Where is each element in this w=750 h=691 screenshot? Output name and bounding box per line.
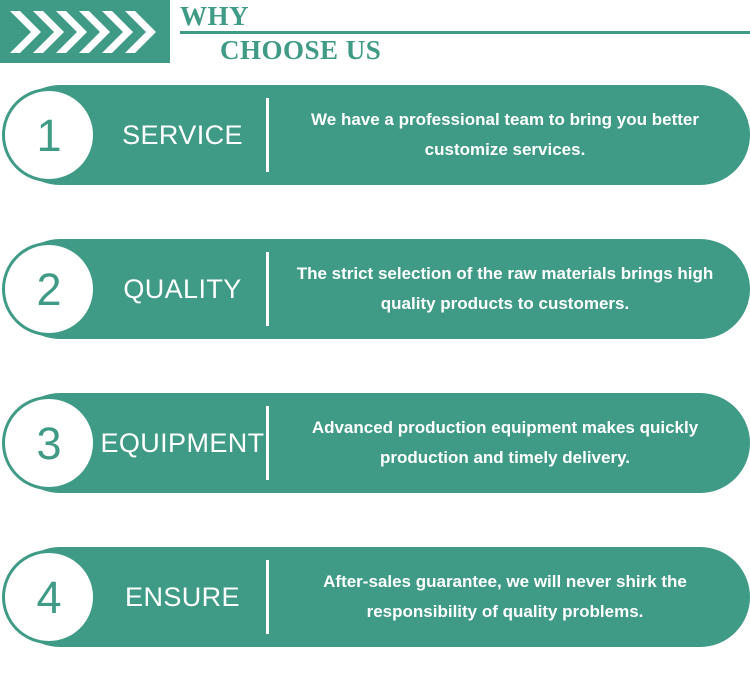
chevrons-right-icon <box>10 9 160 55</box>
vertical-divider <box>266 560 269 634</box>
number-badge: 4 <box>2 550 96 644</box>
feature-list: 1 SERVICE We have a professional team to… <box>0 85 750 647</box>
feature-row: 1 SERVICE We have a professional team to… <box>10 85 750 185</box>
number-badge: 2 <box>2 242 96 336</box>
number-badge: 1 <box>2 88 96 182</box>
why-choose-us-page: WHY CHOOSE US 1 SERVICE We have a profes… <box>0 0 750 691</box>
feature-title: EQUIPMENT <box>105 393 260 493</box>
feature-title: SERVICE <box>105 85 260 185</box>
number-badge-label: 3 <box>36 421 61 466</box>
vertical-divider <box>266 98 269 172</box>
vertical-divider <box>266 252 269 326</box>
number-badge: 3 <box>2 396 96 490</box>
feature-description: We have a professional team to bring you… <box>285 85 725 185</box>
header-title-group: WHY CHOOSE US <box>180 0 750 70</box>
feature-row: 4 ENSURE After-sales guarantee, we will … <box>10 547 750 647</box>
feature-description: After-sales guarantee, we will never shi… <box>285 547 725 647</box>
chevron-decoration-block <box>0 0 170 63</box>
page-title-line-2: CHOOSE US <box>220 34 381 66</box>
number-badge-label: 2 <box>36 267 61 312</box>
feature-row: 3 EQUIPMENT Advanced production equipmen… <box>10 393 750 493</box>
feature-row: 2 QUALITY The strict selection of the ra… <box>10 239 750 339</box>
vertical-divider <box>266 406 269 480</box>
feature-title: ENSURE <box>105 547 260 647</box>
page-title-line-1: WHY <box>180 1 249 31</box>
page-header: WHY CHOOSE US <box>0 0 750 70</box>
feature-description: The strict selection of the raw material… <box>285 239 725 339</box>
feature-title: QUALITY <box>105 239 260 339</box>
number-badge-label: 1 <box>36 113 61 158</box>
number-badge-label: 4 <box>36 575 61 620</box>
feature-description: Advanced production equipment makes quic… <box>285 393 725 493</box>
